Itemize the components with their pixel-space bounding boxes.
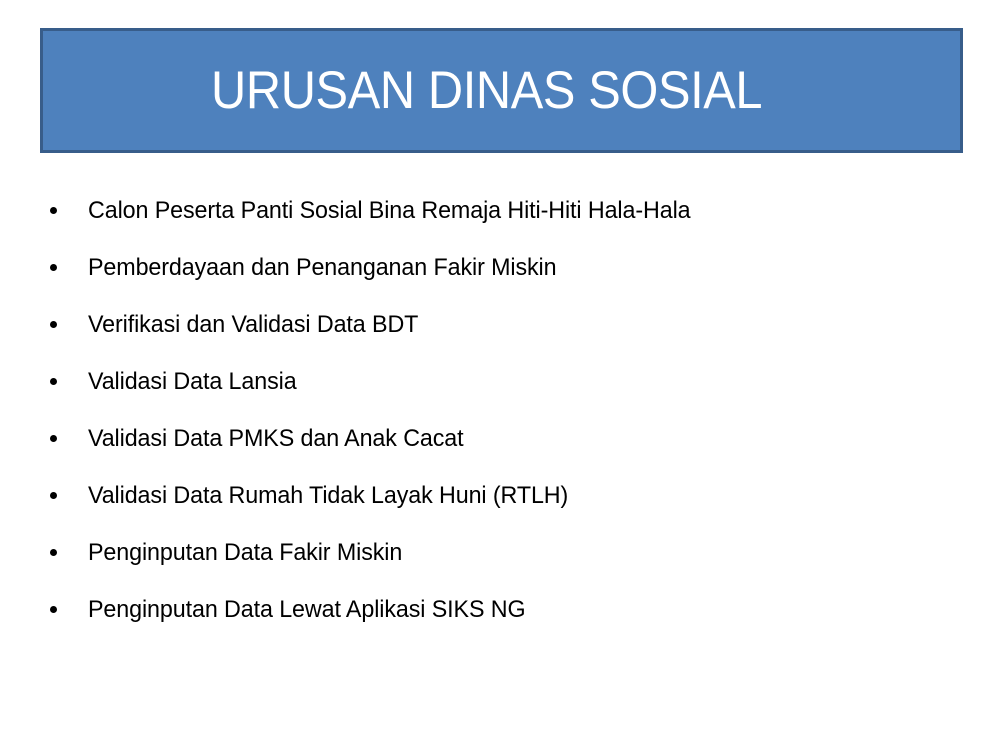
list-item: Validasi Data Rumah Tidak Layak Huni (RT… [40, 467, 960, 524]
title-banner: URUSAN DINAS SOSIAL [40, 28, 963, 153]
list-item-label: Validasi Data PMKS dan Anak Cacat [88, 425, 464, 453]
bullet-list: Calon Peserta Panti Sosial Bina Remaja H… [40, 182, 960, 638]
list-item: Calon Peserta Panti Sosial Bina Remaja H… [40, 182, 960, 239]
slide-canvas: URUSAN DINAS SOSIAL Calon Peserta Panti … [0, 0, 1005, 751]
bullet-dot-icon [50, 492, 57, 499]
list-item-label: Validasi Data Lansia [88, 368, 297, 396]
bullet-dot-icon [50, 549, 57, 556]
list-item: Penginputan Data Fakir Miskin [40, 524, 960, 581]
list-item-label: Penginputan Data Lewat Aplikasi SIKS NG [88, 596, 526, 624]
list-item-label: Validasi Data Rumah Tidak Layak Huni (RT… [88, 482, 568, 510]
bullet-dot-icon [50, 321, 57, 328]
list-item-label: Calon Peserta Panti Sosial Bina Remaja H… [88, 197, 691, 225]
bullet-dot-icon [50, 606, 57, 613]
page-title: URUSAN DINAS SOSIAL [211, 63, 762, 119]
bullet-dot-icon [50, 435, 57, 442]
list-item: Validasi Data Lansia [40, 353, 960, 410]
list-item: Verifikasi dan Validasi Data BDT [40, 296, 960, 353]
list-item-label: Penginputan Data Fakir Miskin [88, 539, 402, 567]
list-item: Pemberdayaan dan Penanganan Fakir Miskin [40, 239, 960, 296]
list-item: Penginputan Data Lewat Aplikasi SIKS NG [40, 581, 960, 638]
bullet-dot-icon [50, 207, 57, 214]
list-item-label: Pemberdayaan dan Penanganan Fakir Miskin [88, 254, 556, 282]
bullet-dot-icon [50, 378, 57, 385]
list-item-label: Verifikasi dan Validasi Data BDT [88, 311, 418, 339]
bullet-dot-icon [50, 264, 57, 271]
list-item: Validasi Data PMKS dan Anak Cacat [40, 410, 960, 467]
